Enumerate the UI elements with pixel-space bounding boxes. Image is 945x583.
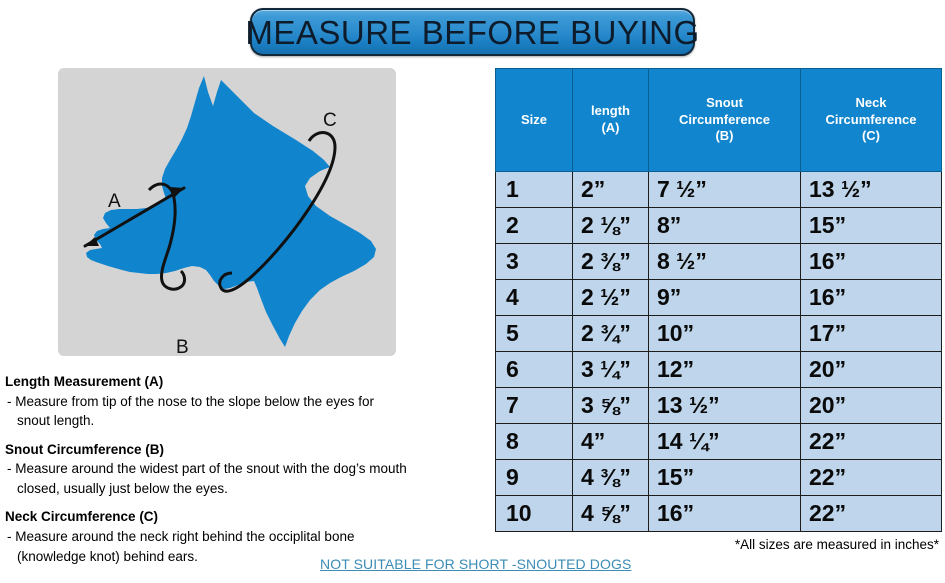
- cell-neck: 16”: [801, 280, 942, 316]
- cell-snout: 7 ½”: [649, 172, 801, 208]
- cell-length: 2”: [573, 172, 649, 208]
- table-row: 5 2 ¾” 10” 17”: [496, 316, 942, 352]
- cell-size: 3: [496, 244, 573, 280]
- header-line: Neck: [804, 95, 938, 112]
- table-header-row: Size length (A) Snout Circumference (B) …: [496, 69, 942, 172]
- header-line: Snout: [652, 95, 797, 112]
- column-header-length: length (A): [573, 69, 649, 172]
- cell-size: 1: [496, 172, 573, 208]
- cell-neck: 22”: [801, 460, 942, 496]
- label-c: C: [323, 110, 337, 131]
- instruction-heading-snout: Snout Circumference (B): [5, 440, 485, 460]
- cell-snout: 16”: [649, 496, 801, 532]
- size-chart-table: Size length (A) Snout Circumference (B) …: [495, 68, 942, 532]
- cell-neck: 16”: [801, 244, 942, 280]
- cell-length: 2 ⅛”: [573, 208, 649, 244]
- cell-snout: 15”: [649, 460, 801, 496]
- table-row: 7 3 ⅝” 13 ½” 20”: [496, 388, 942, 424]
- table-row: 6 3 ¼” 12” 20”: [496, 352, 942, 388]
- cell-size: 2: [496, 208, 573, 244]
- table-header: Size length (A) Snout Circumference (B) …: [496, 69, 942, 172]
- table-row: 1 2” 7 ½” 13 ½”: [496, 172, 942, 208]
- cell-snout: 13 ½”: [649, 388, 801, 424]
- cell-length: 4 ⅝”: [573, 496, 649, 532]
- cell-neck: 13 ½”: [801, 172, 942, 208]
- cell-neck: 22”: [801, 424, 942, 460]
- cell-length: 2 ⅜”: [573, 244, 649, 280]
- page-title: MEASURE BEFORE BUYING: [245, 16, 699, 49]
- header-line: Circumference: [652, 112, 797, 129]
- column-header-neck-circumference: Neck Circumference (C): [801, 69, 942, 172]
- table-row: 2 2 ⅛” 8” 15”: [496, 208, 942, 244]
- label-b: B: [176, 337, 189, 356]
- cell-size: 9: [496, 460, 573, 496]
- dog-measurement-illustration: A B C: [58, 68, 396, 356]
- cell-length: 2 ½”: [573, 280, 649, 316]
- instruction-line: snout length.: [7, 411, 485, 431]
- dog-head-diagram-svg: A B C: [58, 68, 396, 356]
- not-suitable-warning-link[interactable]: NOT SUITABLE FOR SHORT -SNOUTED DOGS: [320, 556, 631, 572]
- instruction-line: closed, usually just below the eyes.: [7, 479, 485, 499]
- table-row: 4 2 ½” 9” 16”: [496, 280, 942, 316]
- table-row: 8 4” 14 ¼” 22”: [496, 424, 942, 460]
- label-a: A: [108, 191, 121, 212]
- table-row: 3 2 ⅜” 8 ½” 16”: [496, 244, 942, 280]
- title-banner: MEASURE BEFORE BUYING: [250, 8, 695, 56]
- cell-neck: 20”: [801, 352, 942, 388]
- cell-length: 2 ¾”: [573, 316, 649, 352]
- cell-snout: 9”: [649, 280, 801, 316]
- cell-size: 10: [496, 496, 573, 532]
- cell-snout: 10”: [649, 316, 801, 352]
- cell-length: 4 ⅜”: [573, 460, 649, 496]
- header-line: Circumference: [804, 112, 938, 129]
- cell-neck: 20”: [801, 388, 942, 424]
- cell-snout: 12”: [649, 352, 801, 388]
- cell-neck: 17”: [801, 316, 942, 352]
- header-line: length: [576, 103, 645, 120]
- cell-size: 4: [496, 280, 573, 316]
- table-row: 10 4 ⅝” 16” 22”: [496, 496, 942, 532]
- cell-size: 6: [496, 352, 573, 388]
- header-line: (B): [652, 128, 797, 145]
- instruction-line: - Measure from tip of the nose to the sl…: [7, 394, 374, 409]
- instruction-line: - Measure around the neck right behind t…: [7, 529, 354, 544]
- cell-snout: 8 ½”: [649, 244, 801, 280]
- cell-length: 4”: [573, 424, 649, 460]
- header-line: Size: [499, 112, 569, 129]
- cell-length: 3 ¼”: [573, 352, 649, 388]
- cell-snout: 8”: [649, 208, 801, 244]
- measurement-instructions: Length Measurement (A) - Measure from ti…: [5, 372, 485, 566]
- cell-snout: 14 ¼”: [649, 424, 801, 460]
- cell-neck: 15”: [801, 208, 942, 244]
- instruction-heading-length: Length Measurement (A): [5, 372, 485, 392]
- table-row: 9 4 ⅜” 15” 22”: [496, 460, 942, 496]
- instruction-line: - Measure around the widest part of the …: [7, 461, 407, 476]
- instruction-body-length: - Measure from tip of the nose to the sl…: [5, 392, 485, 431]
- cell-neck: 22”: [801, 496, 942, 532]
- header-line: (C): [804, 128, 938, 145]
- cell-size: 5: [496, 316, 573, 352]
- units-footnote: *All sizes are measured in inches*: [735, 537, 939, 552]
- instruction-heading-neck: Neck Circumference (C): [5, 507, 485, 527]
- table-body: 1 2” 7 ½” 13 ½” 2 2 ⅛” 8” 15” 3 2 ⅜” 8 ½…: [496, 172, 942, 532]
- header-line: (A): [576, 120, 645, 137]
- instruction-body-snout: - Measure around the widest part of the …: [5, 459, 485, 498]
- column-header-snout-circumference: Snout Circumference (B): [649, 69, 801, 172]
- cell-length: 3 ⅝”: [573, 388, 649, 424]
- cell-size: 7: [496, 388, 573, 424]
- column-header-size: Size: [496, 69, 573, 172]
- cell-size: 8: [496, 424, 573, 460]
